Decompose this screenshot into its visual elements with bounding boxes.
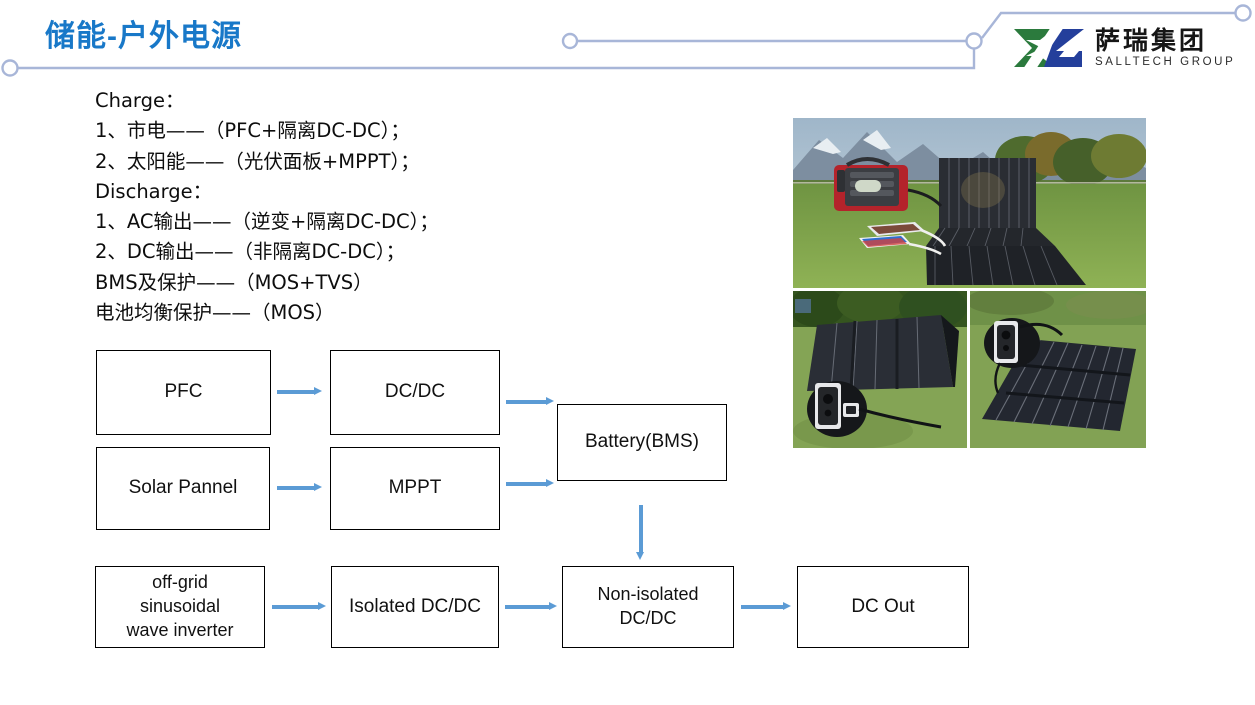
diagram-node-label: DC Out (851, 596, 914, 619)
diagram-node-label: Solar Pannel (129, 477, 238, 500)
diagram-arrow-isolated-to-noniso (505, 602, 557, 611)
diagram-node-inverter: off-gridsinusoidalwave inverter (95, 566, 265, 648)
photo-solar-panel-propped (793, 291, 967, 448)
diagram-arrow-inverter-to-isolated (272, 602, 326, 611)
diagram-node-dcout: DC Out (797, 566, 969, 648)
diagram-node-isolated: Isolated DC/DC (331, 566, 499, 648)
diagram-node-label: Isolated DC/DC (349, 596, 481, 619)
diagram-node-label: Non-isolatedDC/DC (597, 583, 698, 631)
diagram-node-label: Battery(BMS) (585, 431, 699, 454)
diagram-node-label: DC/DC (385, 381, 445, 404)
diagram-node-solar: Solar Pannel (96, 447, 270, 530)
diagram-node-label: off-gridsinusoidalwave inverter (126, 571, 233, 642)
slide: 储能-户外电源 萨瑞集团 SALLTECH GROUP Charge： 1、市电… (0, 0, 1255, 705)
diagram-node-battery: Battery(BMS) (557, 404, 727, 481)
diagram-node-mppt: MPPT (330, 447, 500, 530)
diagram-arrow-battery-to-noniso (636, 505, 645, 560)
diagram-arrow-dcdc-to-battery (506, 397, 554, 406)
photo-portable-power-station-field (793, 118, 1146, 288)
diagram-arrow-solar-to-mppt (277, 483, 322, 492)
photo-solar-panel-flat (970, 291, 1146, 448)
diagram-node-label: MPPT (389, 477, 442, 500)
diagram-arrow-pfc-to-dcdc (277, 387, 322, 396)
diagram-arrow-mppt-to-battery (506, 479, 554, 488)
diagram-node-noniso: Non-isolatedDC/DC (562, 566, 734, 648)
diagram-node-label: PFC (165, 381, 203, 404)
diagram-node-pfc: PFC (96, 350, 271, 435)
photo-collage (793, 118, 1146, 448)
diagram-arrow-noniso-to-dcout (741, 602, 791, 611)
diagram-node-dcdc: DC/DC (330, 350, 500, 435)
